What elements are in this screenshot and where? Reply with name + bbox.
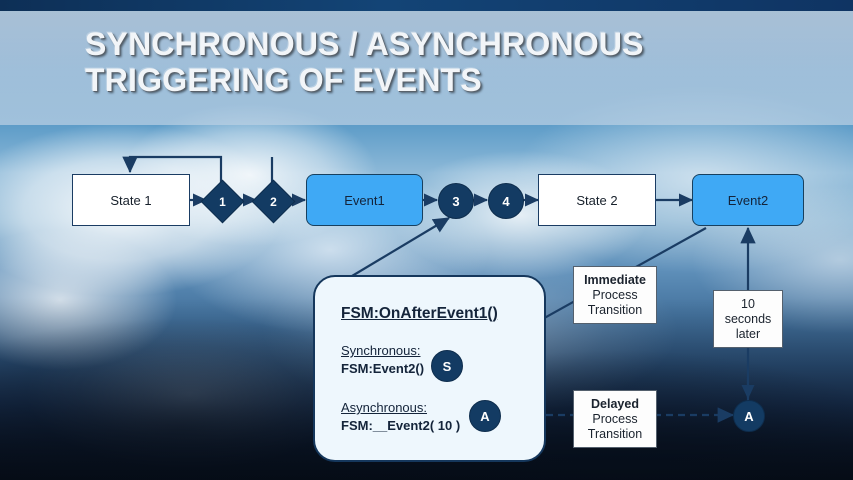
note-delay-line-1: 10 <box>741 297 755 312</box>
callout-sync-code: FSM:Event2() <box>341 361 424 376</box>
node-event-1[interactable]: Event1 <box>306 174 423 226</box>
note-delayed-line-2: Process <box>592 412 637 427</box>
node-circle-4-label: 4 <box>502 194 509 209</box>
node-state-2-label: State 2 <box>576 193 617 208</box>
node-diamond-1-label: 1 <box>208 187 237 216</box>
note-delayed-process-transition: Delayed Process Transition <box>573 390 657 448</box>
note-immediate-line-3: Transition <box>588 303 642 318</box>
node-circle-3[interactable]: 3 <box>438 183 474 219</box>
note-delayed-line-3: Transition <box>588 427 642 442</box>
slide-canvas: SYNCHRONOUS / ASYNCHRONOUS TRIGGERING OF… <box>0 0 853 480</box>
callout-async-label: Asynchronous: <box>341 400 427 415</box>
node-state-1-label: State 1 <box>110 193 151 208</box>
node-state-1[interactable]: State 1 <box>72 174 190 226</box>
note-immediate-line-1: Immediate <box>584 273 646 288</box>
badge-async-a-right-label: A <box>744 409 753 424</box>
callout-fsm-onafterevent1: FSM:OnAfterEvent1() Synchronous: FSM:Eve… <box>313 275 546 462</box>
node-circle-4[interactable]: 4 <box>488 183 524 219</box>
node-state-2[interactable]: State 2 <box>538 174 656 226</box>
note-delay-line-2: seconds <box>725 312 772 327</box>
node-circle-3-label: 3 <box>452 194 459 209</box>
badge-async-a-left-label: A <box>480 409 489 424</box>
badge-async-a-right[interactable]: A <box>733 400 765 432</box>
badge-sync-s-label: S <box>443 359 452 374</box>
note-immediate-line-2: Process <box>592 288 637 303</box>
note-immediate-process-transition: Immediate Process Transition <box>573 266 657 324</box>
note-delay-10-seconds-later: 10 seconds later <box>713 290 783 348</box>
callout-sync-label: Synchronous: <box>341 343 421 358</box>
node-event-2[interactable]: Event2 <box>692 174 804 226</box>
node-event-2-label: Event2 <box>728 193 768 208</box>
node-diamond-2-label: 2 <box>259 187 288 216</box>
badge-async-a-left[interactable]: A <box>469 400 501 432</box>
node-event-1-label: Event1 <box>344 193 384 208</box>
callout-async-code: FSM:__Event2( 10 ) <box>341 418 460 433</box>
note-delayed-line-1: Delayed <box>591 397 639 412</box>
callout-title: FSM:OnAfterEvent1() <box>341 305 498 323</box>
badge-sync-s[interactable]: S <box>431 350 463 382</box>
note-delay-line-3: later <box>736 327 760 342</box>
